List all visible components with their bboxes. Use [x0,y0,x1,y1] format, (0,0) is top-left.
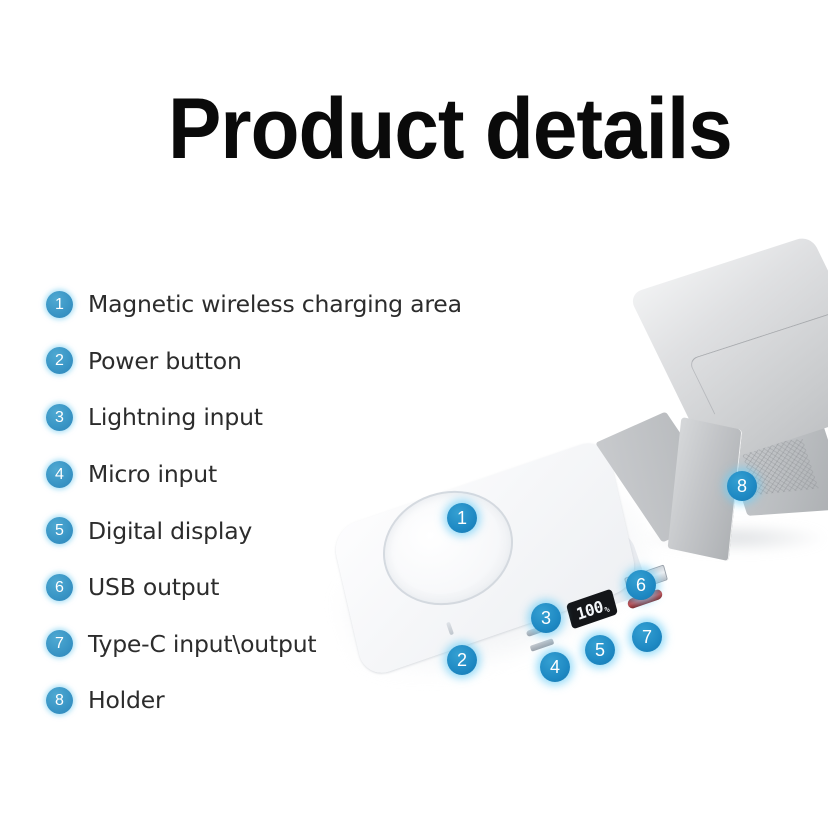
list-item: 7 Type-C input\output [46,616,516,673]
legend-badge-1: 1 [46,291,73,318]
holder-back-panel [628,235,828,465]
device-side-edge [582,526,650,608]
callout-5: 5 [585,635,615,665]
feature-legend-list: 1 Magnetic wireless charging area 2 Powe… [46,276,516,729]
list-item: 2 Power button [46,333,516,390]
legend-badge-4: 4 [46,461,73,488]
legend-label-1: Magnetic wireless charging area [88,290,462,318]
list-item: 5 Digital display [46,502,516,559]
legend-label-5: Digital display [88,517,252,545]
legend-badge-2: 2 [46,347,73,374]
list-item: 4 Micro input [46,446,516,503]
list-item: 6 USB output [46,559,516,616]
legend-badge-6: 6 [46,574,73,601]
legend-label-6: USB output [88,573,219,601]
display-value: 100 [574,596,605,623]
legend-label-3: Lightning input [88,403,263,431]
legend-badge-7: 7 [46,630,73,657]
digital-display: 100% [566,589,618,630]
callout-7: 7 [632,622,662,652]
legend-label-2: Power button [88,347,242,375]
usb-c-port [627,588,664,609]
legend-badge-8: 8 [46,687,73,714]
display-unit: % [604,605,610,615]
legend-badge-5: 5 [46,517,73,544]
legend-badge-3: 3 [46,404,73,431]
callout-8: 8 [727,471,757,501]
holder-kickstand-leg [668,417,743,561]
lightning-port [526,623,553,637]
holder-leg-back [595,412,733,543]
product-details-page: Product details 1 Magnetic wireless char… [0,0,828,827]
holder-stand [636,255,828,560]
page-title: Product details [168,86,732,172]
legend-label-7: Type-C input\output [88,630,316,658]
holder-panel-crease [688,313,828,415]
list-item: 3 Lightning input [46,389,516,446]
legend-label-4: Micro input [88,460,217,488]
legend-label-8: Holder [88,686,164,714]
callout-3: 3 [531,603,561,633]
holder-leg-right [714,404,828,516]
usb-a-port [624,564,668,593]
holder-texture [739,439,818,495]
holder-shadow [646,523,826,553]
list-item: 8 Holder [46,672,516,729]
list-item: 1 Magnetic wireless charging area [46,276,516,333]
micro-usb-port [530,638,555,651]
callout-4: 4 [540,652,570,682]
callout-6: 6 [626,570,656,600]
